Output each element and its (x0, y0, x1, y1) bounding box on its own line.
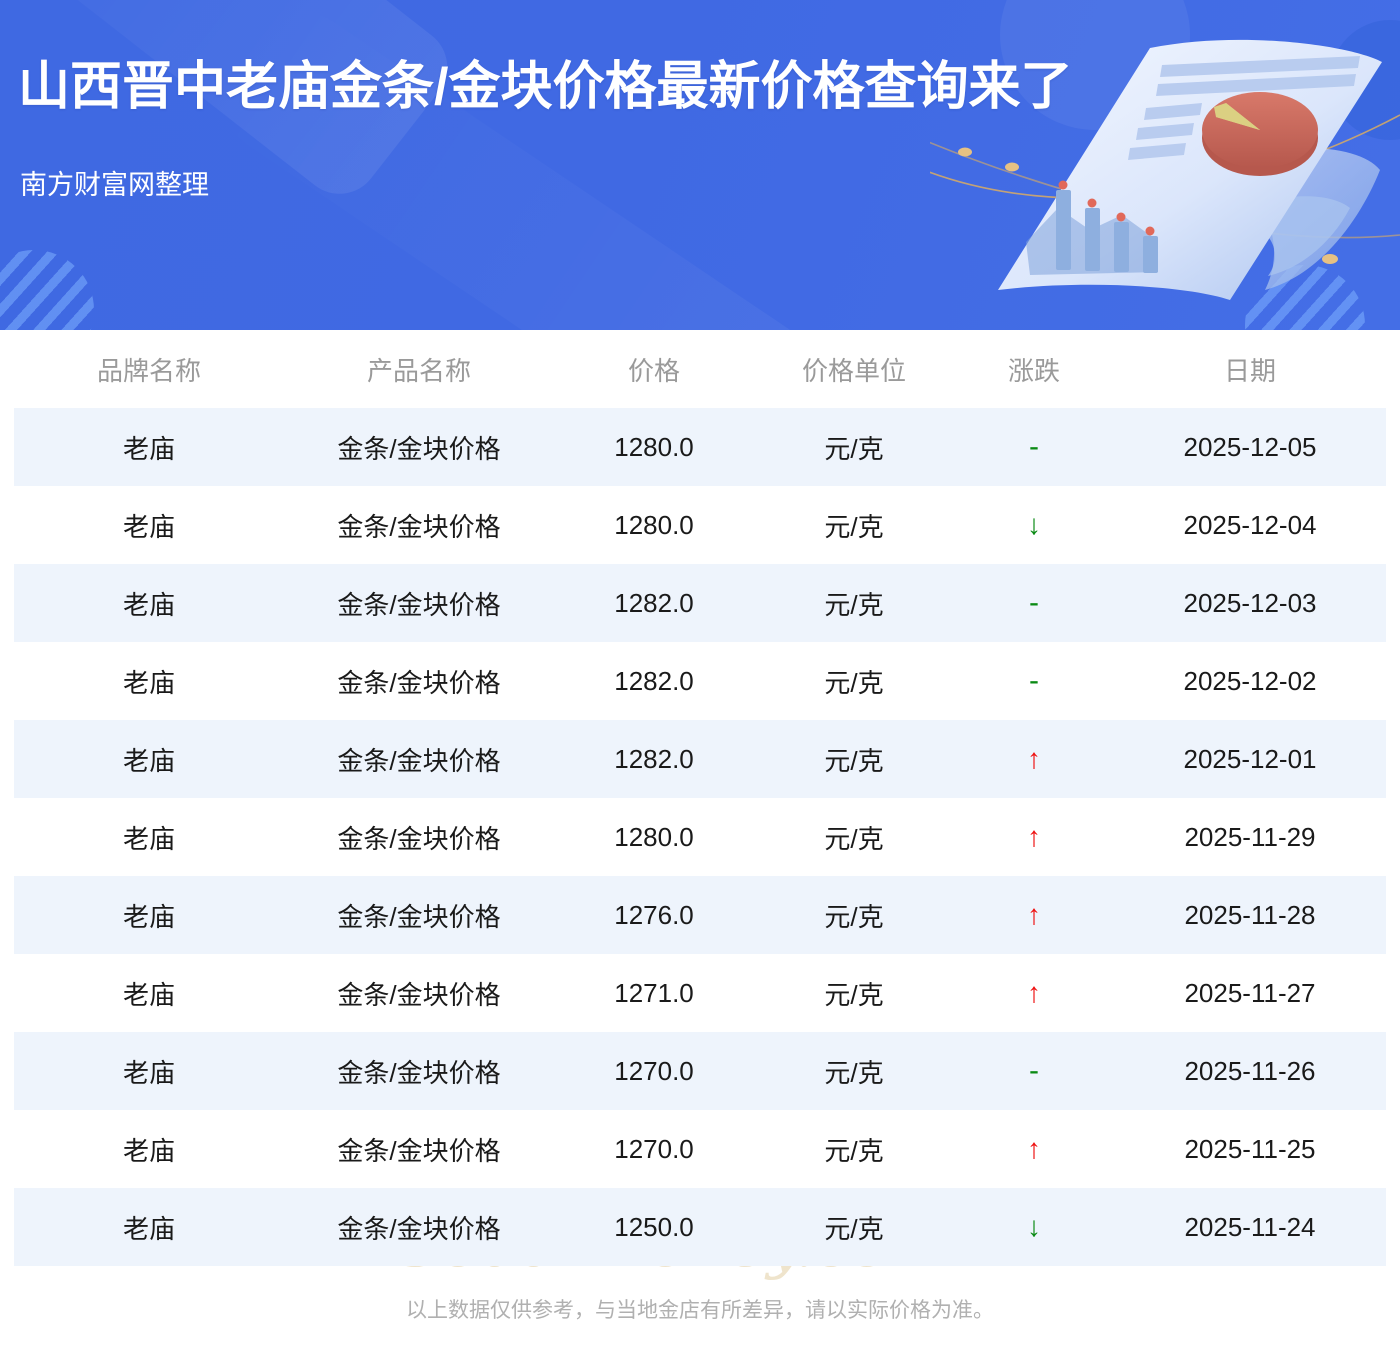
table-row: 老庙金条/金块价格1270.0元/克-2025-11-26 (14, 1032, 1386, 1110)
page-title: 山西晋中老庙金条/金块价格最新价格查询来了 (18, 58, 1072, 118)
change-flat-icon: - (1029, 1056, 1039, 1086)
page-subtitle: 南方财富网整理 (20, 163, 209, 202)
cell-brand: 老庙 (14, 1110, 284, 1188)
table-row: 老庙金条/金块价格1250.0元/克↓2025-11-24 (14, 1188, 1386, 1266)
cell-unit: 元/克 (754, 954, 954, 1032)
cell-unit: 元/克 (754, 1110, 954, 1188)
change-up-icon: ↑ (1027, 745, 1041, 773)
cell-product: 金条/金块价格 (284, 486, 554, 564)
cell-change: ↓ (954, 1188, 1114, 1266)
table-row: 老庙金条/金块价格1276.0元/克↑2025-11-28 (14, 876, 1386, 954)
gold-price-table: 品牌名称 产品名称 价格 价格单位 涨跌 日期 老庙金条/金块价格1280.0元… (14, 330, 1386, 1266)
table-row: 老庙金条/金块价格1270.0元/克↑2025-11-25 (14, 1110, 1386, 1188)
cell-unit: 元/克 (754, 720, 954, 798)
table-row: 老庙金条/金块价格1282.0元/克↑2025-12-01 (14, 720, 1386, 798)
cell-brand: 老庙 (14, 408, 284, 486)
cell-price: 1250.0 (554, 1188, 754, 1266)
cell-unit: 元/克 (754, 798, 954, 876)
cell-date: 2025-12-05 (1114, 408, 1386, 486)
change-up-icon: ↑ (1027, 901, 1041, 929)
cell-date: 2025-11-27 (1114, 954, 1386, 1032)
report-illustration (930, 10, 1400, 330)
cell-date: 2025-11-25 (1114, 1110, 1386, 1188)
change-up-icon: ↑ (1027, 979, 1041, 1007)
cell-unit: 元/克 (754, 564, 954, 642)
cell-change: - (954, 408, 1114, 486)
column-header-change: 涨跌 (954, 330, 1114, 408)
cell-brand: 老庙 (14, 954, 284, 1032)
table-row: 老庙金条/金块价格1280.0元/克-2025-12-05 (14, 408, 1386, 486)
table-row: 老庙金条/金块价格1271.0元/克↑2025-11-27 (14, 954, 1386, 1032)
column-header-unit: 价格单位 (754, 330, 954, 408)
change-down-icon: ↓ (1027, 1213, 1041, 1241)
cell-product: 金条/金块价格 (284, 798, 554, 876)
cell-change: ↑ (954, 876, 1114, 954)
cell-price: 1270.0 (554, 1110, 754, 1188)
cell-product: 金条/金块价格 (284, 1032, 554, 1110)
cell-unit: 元/克 (754, 486, 954, 564)
change-flat-icon: - (1029, 588, 1039, 618)
cell-brand: 老庙 (14, 486, 284, 564)
cell-product: 金条/金块价格 (284, 1188, 554, 1266)
table-header-row: 品牌名称 产品名称 价格 价格单位 涨跌 日期 (14, 330, 1386, 408)
cell-product: 金条/金块价格 (284, 876, 554, 954)
table-row: 老庙金条/金块价格1282.0元/克-2025-12-03 (14, 564, 1386, 642)
cell-brand: 老庙 (14, 564, 284, 642)
change-up-icon: ↑ (1027, 823, 1041, 851)
cell-change: - (954, 1032, 1114, 1110)
cell-date: 2025-12-01 (1114, 720, 1386, 798)
cell-change: ↑ (954, 720, 1114, 798)
cell-price: 1282.0 (554, 564, 754, 642)
table-header: 品牌名称 产品名称 价格 价格单位 涨跌 日期 (14, 330, 1386, 408)
cell-brand: 老庙 (14, 798, 284, 876)
table-row: 老庙金条/金块价格1282.0元/克-2025-12-02 (14, 642, 1386, 720)
cell-unit: 元/克 (754, 1032, 954, 1110)
table-body: 老庙金条/金块价格1280.0元/克-2025-12-05老庙金条/金块价格12… (14, 408, 1386, 1266)
cell-unit: 元/克 (754, 1188, 954, 1266)
cell-product: 金条/金块价格 (284, 642, 554, 720)
cell-price: 1280.0 (554, 798, 754, 876)
change-flat-icon: - (1029, 666, 1039, 696)
cell-price: 1270.0 (554, 1032, 754, 1110)
change-down-icon: ↓ (1027, 511, 1041, 539)
cell-change: ↑ (954, 954, 1114, 1032)
cell-date: 2025-12-02 (1114, 642, 1386, 720)
cell-product: 金条/金块价格 (284, 720, 554, 798)
cell-change: ↑ (954, 798, 1114, 876)
column-header-price: 价格 (554, 330, 754, 408)
cell-price: 1282.0 (554, 720, 754, 798)
price-table-section: 南方财富网 Southmoney.com 品牌名称 产品名称 价格 价格单位 涨… (0, 330, 1400, 1344)
cell-brand: 老庙 (14, 1032, 284, 1110)
cell-brand: 老庙 (14, 720, 284, 798)
column-header-brand: 品牌名称 (14, 330, 284, 408)
cell-product: 金条/金块价格 (284, 408, 554, 486)
cell-date: 2025-11-29 (1114, 798, 1386, 876)
cell-product: 金条/金块价格 (284, 1110, 554, 1188)
cell-brand: 老庙 (14, 876, 284, 954)
disclaimer-note: 以上数据仅供参考，与当地金店有所差异，请以实际价格为准。 (0, 1266, 1400, 1344)
cell-unit: 元/克 (754, 642, 954, 720)
cell-price: 1280.0 (554, 486, 754, 564)
cell-price: 1282.0 (554, 642, 754, 720)
banner-swoosh-decoration-2 (198, 0, 862, 330)
column-header-date: 日期 (1114, 330, 1386, 408)
cell-change: - (954, 564, 1114, 642)
change-flat-icon: - (1029, 432, 1039, 462)
table-row: 老庙金条/金块价格1280.0元/克↓2025-12-04 (14, 486, 1386, 564)
column-header-product: 产品名称 (284, 330, 554, 408)
cell-brand: 老庙 (14, 642, 284, 720)
banner-striped-circle-left (0, 250, 94, 330)
cell-price: 1271.0 (554, 954, 754, 1032)
cell-change: ↓ (954, 486, 1114, 564)
page-banner: 山西晋中老庙金条/金块价格最新价格查询来了 南方财富网整理 (0, 0, 1400, 330)
cell-unit: 元/克 (754, 408, 954, 486)
change-up-icon: ↑ (1027, 1135, 1041, 1163)
cell-change: ↑ (954, 1110, 1114, 1188)
cell-date: 2025-11-28 (1114, 876, 1386, 954)
cell-date: 2025-11-26 (1114, 1032, 1386, 1110)
cell-product: 金条/金块价格 (284, 954, 554, 1032)
cell-brand: 老庙 (14, 1188, 284, 1266)
cell-unit: 元/克 (754, 876, 954, 954)
table-row: 老庙金条/金块价格1280.0元/克↑2025-11-29 (14, 798, 1386, 876)
cell-price: 1280.0 (554, 408, 754, 486)
cell-product: 金条/金块价格 (284, 564, 554, 642)
cell-change: - (954, 642, 1114, 720)
cell-date: 2025-11-24 (1114, 1188, 1386, 1266)
cell-date: 2025-12-04 (1114, 486, 1386, 564)
cell-price: 1276.0 (554, 876, 754, 954)
cell-date: 2025-12-03 (1114, 564, 1386, 642)
